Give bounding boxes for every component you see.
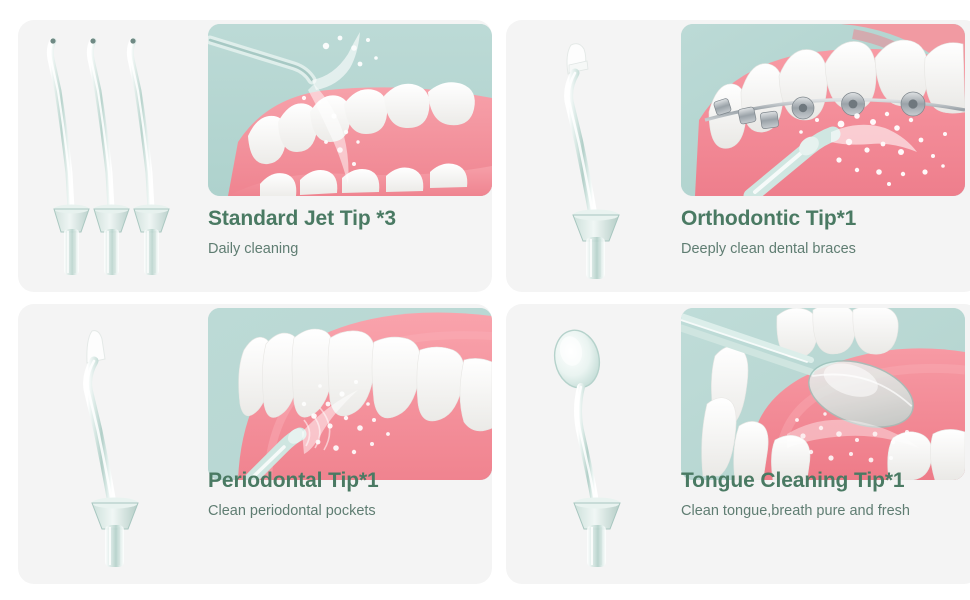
periodontal-tip-icon xyxy=(18,304,208,584)
braces-water-spray-photo xyxy=(681,24,965,196)
caption-standard-jet-tip: Standard Jet Tip *3 Daily cleaning xyxy=(208,206,488,259)
card-periodontal-tip[interactable]: Periodontal Tip*1 Clean periodontal pock… xyxy=(18,304,492,584)
tongue-cleaning-tip-icon xyxy=(506,304,681,584)
card-title: Tongue Cleaning Tip*1 xyxy=(681,468,970,493)
orthodontic-tip-icon xyxy=(506,20,681,292)
card-title: Standard Jet Tip *3 xyxy=(208,206,488,231)
tongue-scraper-photo xyxy=(681,308,965,480)
card-subtitle: Clean periodontal pockets xyxy=(208,502,488,521)
caption-orthodontic-tip: Orthodontic Tip*1 Deeply clean dental br… xyxy=(681,206,970,259)
card-tongue-cleaning-tip[interactable]: Tongue Cleaning Tip*1 Clean tongue,breat… xyxy=(506,304,970,584)
standard-jet-tip-icon xyxy=(18,20,208,292)
caption-periodontal-tip: Periodontal Tip*1 Clean periodontal pock… xyxy=(208,468,488,521)
caption-tongue-cleaning-tip: Tongue Cleaning Tip*1 Clean tongue,breat… xyxy=(681,468,970,521)
teeth-water-spray-photo xyxy=(208,24,492,196)
card-standard-jet-tip[interactable]: Standard Jet Tip *3 Daily cleaning xyxy=(18,20,492,292)
card-subtitle: Deeply clean dental braces xyxy=(681,240,970,259)
card-title: Orthodontic Tip*1 xyxy=(681,206,970,231)
card-subtitle: Clean tongue,breath pure and fresh xyxy=(681,502,970,521)
tip-accessories-grid: Standard Jet Tip *3 Daily cleaning xyxy=(0,0,970,600)
gumline-water-spray-photo xyxy=(208,308,492,480)
card-title: Periodontal Tip*1 xyxy=(208,468,488,493)
card-orthodontic-tip[interactable]: Orthodontic Tip*1 Deeply clean dental br… xyxy=(506,20,970,292)
card-subtitle: Daily cleaning xyxy=(208,240,488,259)
